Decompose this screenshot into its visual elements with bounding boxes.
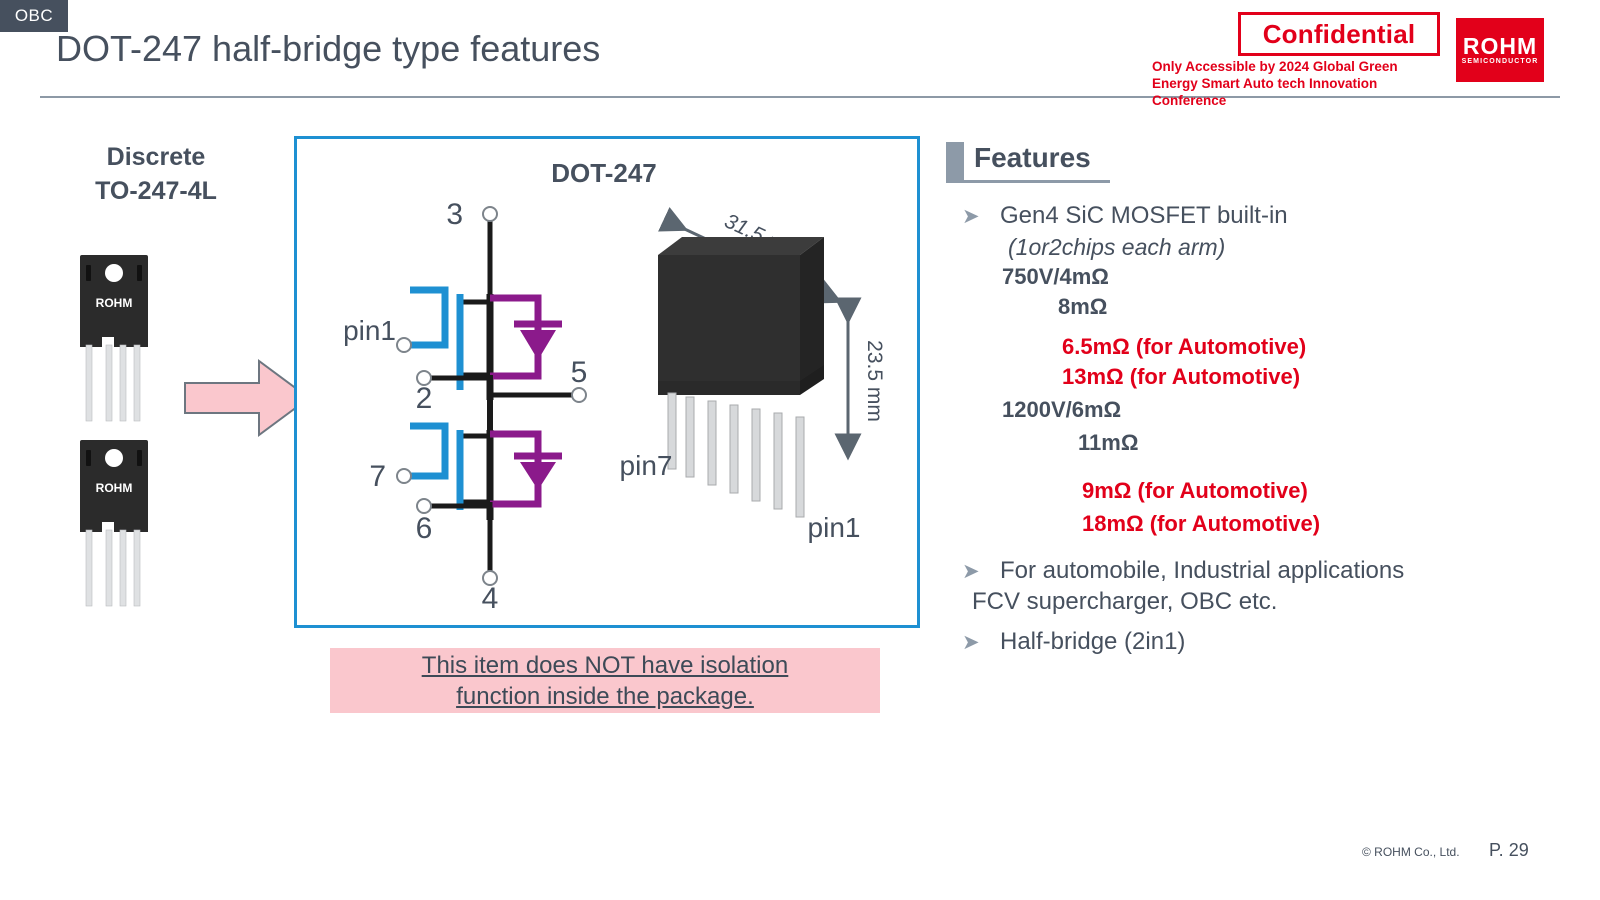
features-item-3: 8mΩ — [1058, 294, 1107, 320]
isolation-warning-note: This item does NOT have isolation functi… — [330, 648, 880, 713]
page-title: DOT-247 half-bridge type features — [56, 28, 600, 70]
pin-label-5: 5 — [571, 356, 588, 389]
package-brand-text: ROHM — [96, 296, 133, 310]
confidential-badge: Confidential — [1238, 12, 1440, 56]
to247-package-bottom: ROHM — [68, 440, 160, 610]
isolation-warning-text: This item does NOT have isolation functi… — [422, 650, 788, 712]
features-item-12: Half-bridge (2in1) — [1000, 628, 1185, 656]
features-bullet-icon: ➤ — [962, 204, 980, 229]
package-pin7-label: pin7 — [620, 450, 672, 481]
features-item-10: For automobile, Industrial applications — [1000, 557, 1404, 585]
pin-label-pin1: pin1 — [343, 315, 396, 346]
half-bridge-schematic: 3 pin1 2 5 7 6 4 — [300, 190, 600, 610]
pin-label-2: 2 — [416, 382, 433, 415]
features-bullet-icon: ➤ — [962, 630, 980, 655]
discrete-package-label: Discrete TO-247-4L — [56, 140, 256, 208]
pin-label-4: 4 — [482, 582, 499, 610]
discrete-label-line2: TO-247-4L — [56, 174, 256, 208]
features-item-7: 11mΩ — [1078, 430, 1138, 456]
package-pin1-label: pin1 — [808, 512, 861, 543]
footer-page-number: P. 29 — [1489, 840, 1529, 861]
dot247-package-illustration: 31.5 mm 23.5 mm pin7 pin1 — [620, 185, 910, 555]
features-item-8: 9mΩ (for Automotive) — [1082, 478, 1308, 504]
isolation-warning-line1: This item does NOT have isolation — [422, 652, 788, 679]
dimension-height-label: 23.5 mm — [863, 340, 886, 422]
features-accent-bar — [946, 142, 964, 180]
pin-label-6: 6 — [416, 512, 433, 545]
features-item-5: 13mΩ (for Automotive) — [1062, 364, 1300, 390]
confidential-label: Confidential — [1263, 19, 1416, 50]
features-underline — [946, 180, 1110, 183]
isolation-warning-line2: function inside the package. — [456, 683, 754, 710]
footer-copyright: © ROHM Co., Ltd. — [1362, 845, 1460, 859]
pin-label-3: 3 — [446, 198, 463, 231]
discrete-label-line1: Discrete — [56, 140, 256, 174]
to247-package-top: ROHM — [68, 255, 160, 425]
rohm-logo-wordmark: ROHM — [1463, 35, 1537, 57]
features-item-4: 6.5mΩ (for Automotive) — [1062, 334, 1306, 360]
pin-label-7: 7 — [369, 460, 386, 493]
features-item-0: Gen4 SiC MOSFET built-in — [1000, 202, 1288, 230]
features-bullet-icon: ➤ — [962, 559, 980, 584]
confidential-note: Only Accessible by 2024 Global Green Ene… — [1152, 58, 1438, 109]
features-item-11: FCV supercharger, OBC etc. — [972, 588, 1277, 616]
rohm-logo: ROHM SEMICONDUCTOR — [1456, 18, 1544, 82]
features-item-6: 1200V/6mΩ — [1002, 397, 1121, 423]
features-heading: Features — [974, 142, 1091, 174]
rohm-logo-tagline: SEMICONDUCTOR — [1462, 58, 1539, 65]
features-item-2: 750V/4mΩ — [1002, 264, 1109, 290]
features-item-9: 18mΩ (for Automotive) — [1082, 511, 1320, 537]
features-item-1: (1or2chips each arm) — [1008, 234, 1225, 261]
transition-arrow-icon — [183, 357, 311, 439]
package-brand-text: ROHM — [96, 481, 133, 495]
